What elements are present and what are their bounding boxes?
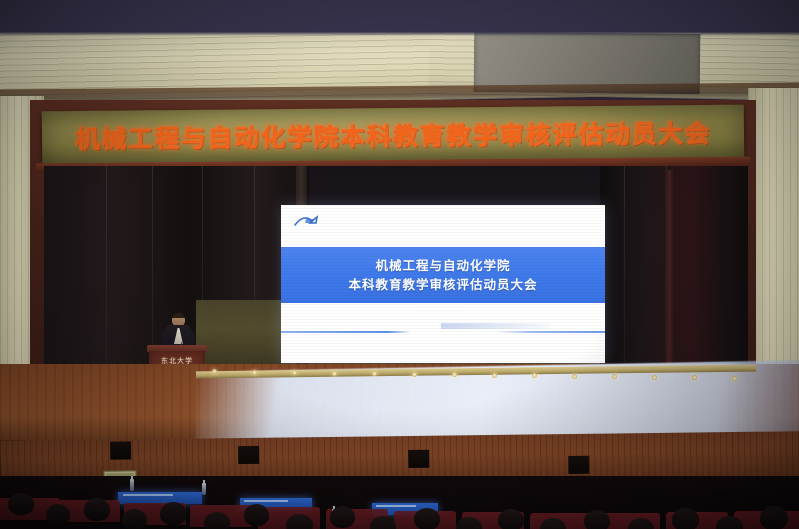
footlight — [572, 374, 577, 379]
audience-area — [0, 476, 799, 529]
audience-head — [122, 509, 147, 529]
audience-head — [160, 502, 187, 525]
banner-title-text: 机械工程与自动化学院本科教育教学审核评估动员大会 — [75, 114, 711, 156]
speaker-head — [172, 313, 185, 327]
ceiling-fixture-dot — [520, 4, 525, 8]
slide-title-line1: 机械工程与自动化学院 — [375, 256, 510, 275]
footlight — [652, 375, 657, 380]
footlight — [692, 375, 697, 380]
audience-head — [46, 504, 70, 525]
footlight — [492, 373, 497, 378]
slide-title-line2: 本科教育教学审核评估动员大会 — [348, 275, 537, 294]
slide-divider-rule — [281, 331, 605, 333]
footlight — [212, 369, 217, 374]
audience-head — [584, 510, 610, 529]
audience-head — [370, 516, 396, 529]
wall-vent — [568, 456, 589, 474]
wall-vent — [408, 450, 429, 468]
water-bottle — [130, 479, 134, 491]
wall-vent — [238, 446, 259, 464]
projection-screen: 机械工程与自动化学院 本科教育教学审核评估动员大会 · · · · · · — [281, 205, 605, 363]
audience-head — [244, 504, 269, 526]
footlight — [612, 374, 617, 379]
slide-footnote-mark — [441, 323, 551, 329]
slide-subtitle: · · · · · · — [281, 309, 605, 315]
audience-head — [286, 514, 313, 529]
ceiling-fixture-dot — [300, 8, 305, 12]
water-bottle — [202, 483, 206, 495]
footlight — [372, 371, 377, 376]
audience-head — [8, 493, 34, 515]
audience-head — [760, 506, 788, 529]
footlight — [292, 370, 297, 375]
slide-title-band: 机械工程与自动化学院 本科教育教学审核评估动员大会 — [281, 247, 605, 303]
footlight — [532, 373, 537, 378]
audience-head — [414, 508, 440, 529]
footlight — [732, 376, 737, 381]
audience-head — [498, 509, 524, 529]
footlight — [252, 370, 257, 375]
audience-head — [330, 506, 355, 528]
event-banner: 机械工程与自动化学院本科教育教学审核评估动员大会 — [42, 105, 744, 166]
footlight — [412, 372, 417, 377]
footlight — [452, 372, 457, 377]
swoosh-logo-icon — [293, 214, 323, 230]
audience-head — [84, 498, 110, 521]
footlight — [332, 371, 337, 376]
auditorium-photo: 机械工程与自动化学院本科教育教学审核评估动员大会 机械工程与自动化学院 本科教育… — [0, 0, 799, 529]
curtain-right — [600, 166, 748, 380]
audience-head — [672, 508, 699, 529]
wall-vent — [110, 441, 131, 459]
stage-pillar-right — [665, 170, 674, 366]
audience-head — [204, 512, 230, 529]
